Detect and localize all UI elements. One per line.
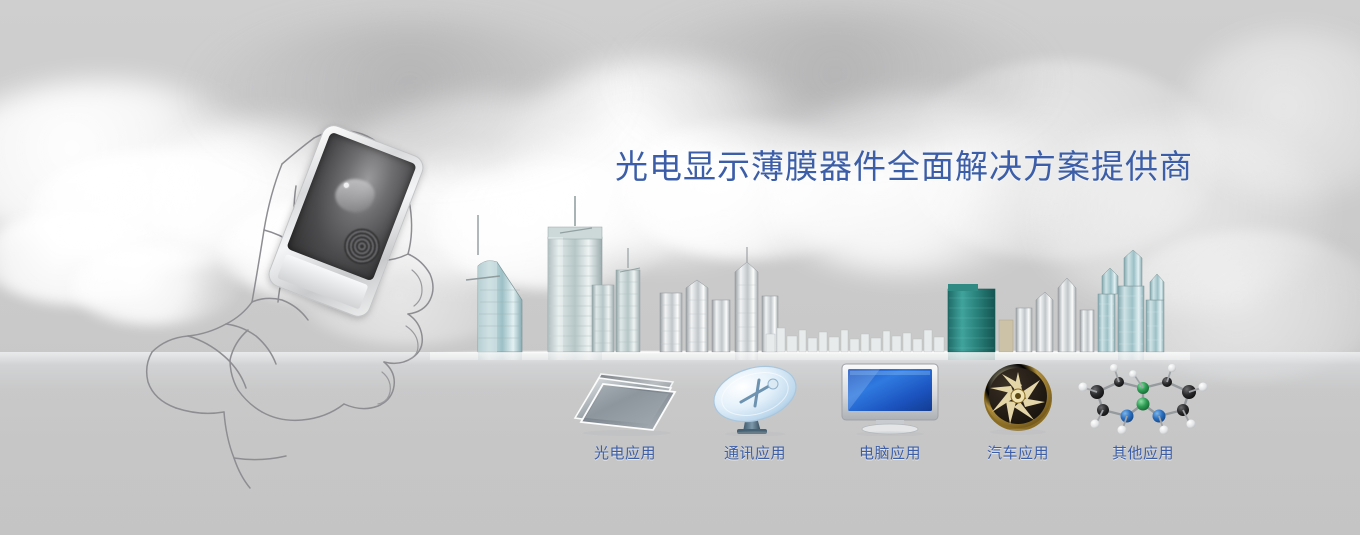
lowrise-cluster bbox=[766, 328, 944, 352]
application-item-optoelectronic[interactable]: 光电应用 bbox=[555, 358, 695, 463]
application-label: 电脑应用 bbox=[820, 442, 960, 463]
application-label: 通讯应用 bbox=[685, 442, 825, 463]
molecule-model-icon bbox=[1073, 358, 1213, 436]
alloy-wheel-icon bbox=[948, 358, 1088, 436]
sail-tower bbox=[466, 215, 522, 352]
application-label: 光电应用 bbox=[555, 442, 695, 463]
page-title: 光电显示薄膜器件全面解决方案提供商 bbox=[615, 140, 1193, 188]
screen-swirl-graphic bbox=[331, 173, 379, 218]
hero-banner: 光电显示薄膜器件全面解决方案提供商 bbox=[0, 0, 1360, 535]
tower-cluster-far-right bbox=[1098, 250, 1164, 352]
teal-tower bbox=[948, 284, 995, 352]
screen-ripple-graphic bbox=[339, 223, 386, 270]
tower-cluster-right bbox=[999, 278, 1094, 352]
application-label: 汽车应用 bbox=[948, 442, 1088, 463]
lcd-monitor-icon bbox=[820, 358, 960, 436]
application-item-other[interactable]: 其他应用 bbox=[1073, 358, 1213, 463]
application-item-communication[interactable]: 通讯应用 bbox=[685, 358, 825, 463]
tower-cluster-mid bbox=[660, 247, 778, 352]
satellite-dish-icon bbox=[685, 358, 825, 436]
application-label: 其他应用 bbox=[1073, 442, 1213, 463]
glass-film-panels-icon bbox=[555, 358, 695, 436]
application-item-automotive[interactable]: 汽车应用 bbox=[948, 358, 1088, 463]
application-item-computer[interactable]: 电脑应用 bbox=[820, 358, 960, 463]
